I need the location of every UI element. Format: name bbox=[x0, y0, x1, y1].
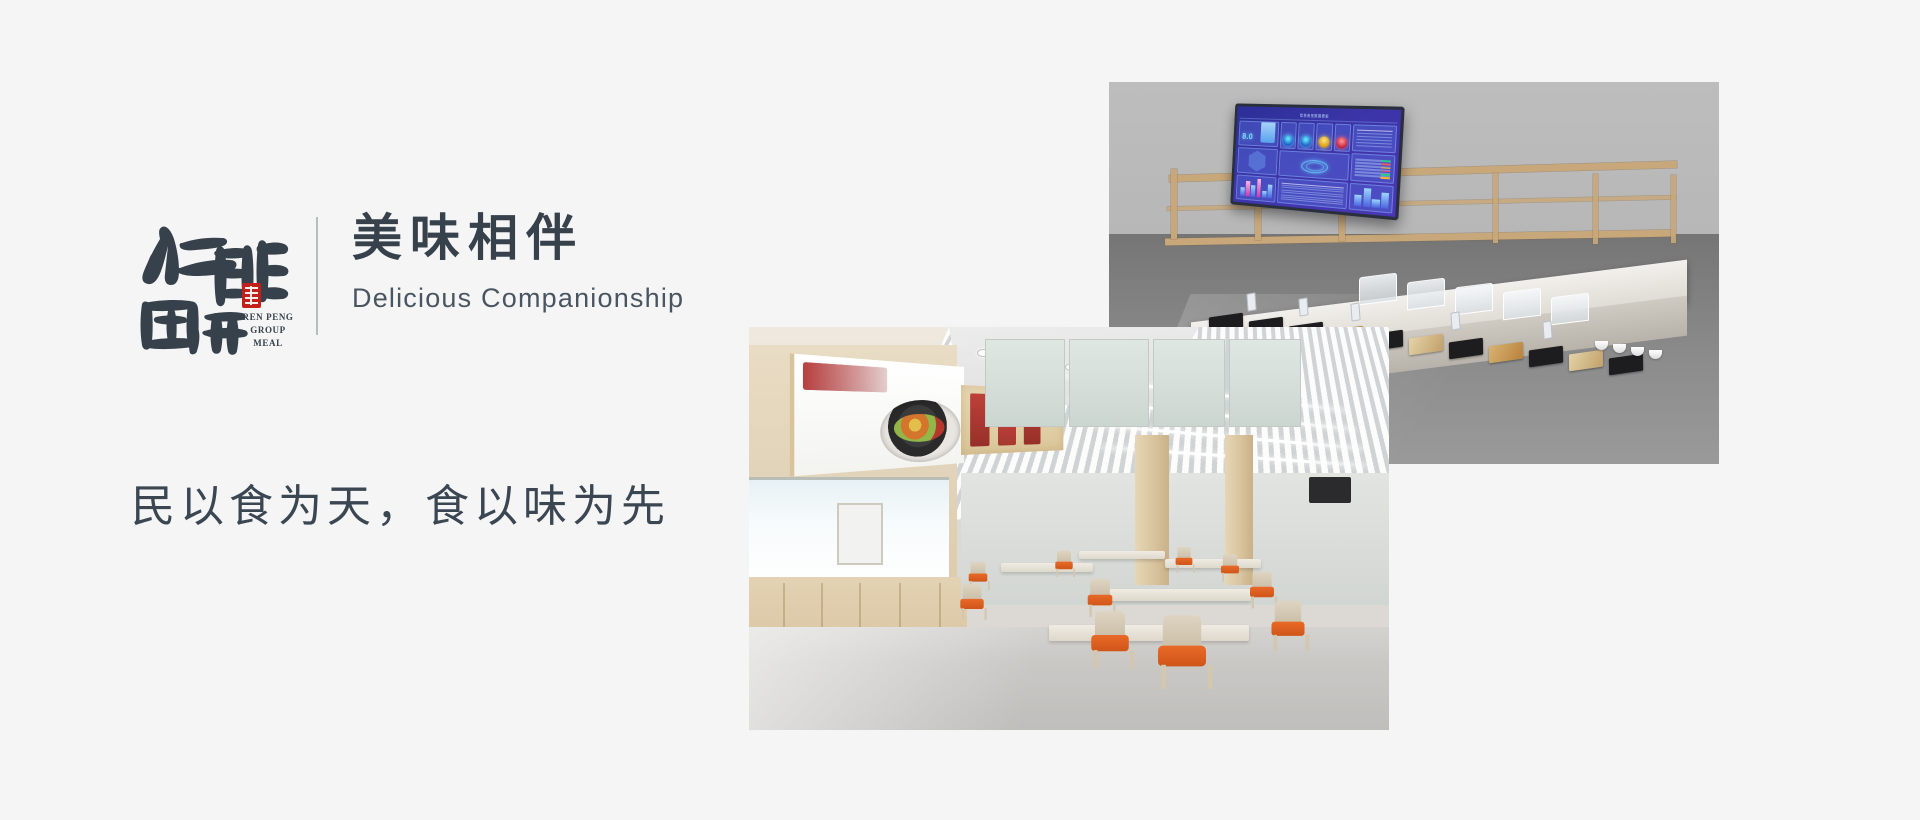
dashboard-list-card bbox=[1352, 124, 1397, 153]
logo-english-text: REN PENG GROUP MEAL bbox=[233, 311, 303, 350]
stacked-bowls bbox=[1613, 344, 1626, 353]
dish-tray bbox=[1529, 346, 1563, 368]
stacked-bowls bbox=[1595, 341, 1608, 350]
dish-photo-icon bbox=[880, 399, 960, 465]
logo-english-line-2: GROUP bbox=[233, 324, 303, 337]
kpi-tile-2 bbox=[1297, 123, 1314, 150]
bar-chart-icon bbox=[1240, 175, 1273, 199]
dashboard-ui: 智慧食堂数据看板 8.0 bbox=[1233, 106, 1401, 217]
sneeze-guard bbox=[1503, 288, 1541, 321]
dining-table bbox=[1049, 625, 1249, 641]
dashboard-column-right bbox=[1349, 124, 1397, 213]
dashboard-ring-card-left bbox=[1278, 150, 1350, 181]
kpi-tile-1 bbox=[1280, 122, 1297, 149]
mini-bar-chart-icon bbox=[1354, 183, 1389, 209]
table-rows-icon bbox=[1281, 182, 1345, 204]
logo-english-line-1: REN PENG bbox=[233, 311, 303, 324]
price-tag-stand bbox=[1450, 311, 1460, 330]
led-dashboard-screen: 智慧食堂数据看板 8.0 bbox=[1230, 103, 1404, 220]
kpi-tile-3 bbox=[1315, 123, 1333, 151]
headline-chinese: 美味相伴 bbox=[352, 209, 684, 268]
dashboard-column-left: 8.0 bbox=[1236, 121, 1280, 203]
chef-avatar-icon bbox=[1260, 121, 1276, 144]
dining-chair bbox=[1158, 615, 1206, 689]
dining-chair bbox=[1055, 551, 1072, 578]
cafeteria-interior-photo bbox=[749, 327, 1389, 730]
price-tag-stand bbox=[1350, 302, 1360, 321]
dashboard-column-mid bbox=[1277, 122, 1352, 209]
kpi-tile-4 bbox=[1333, 124, 1351, 152]
dashboard-kpi-row bbox=[1280, 122, 1352, 152]
dashboard-radar-card bbox=[1237, 147, 1278, 175]
list-rows-icon bbox=[1356, 130, 1392, 150]
logo-english-line-3: MEAL bbox=[233, 337, 303, 350]
vertical-divider bbox=[316, 217, 318, 335]
wall-mounted-tv bbox=[1309, 477, 1351, 503]
dashboard-bar-card bbox=[1236, 174, 1277, 202]
company-logo[interactable]: REN PENG GROUP MEAL bbox=[130, 205, 290, 355]
price-tag-stand bbox=[1246, 292, 1256, 311]
dining-chair bbox=[1272, 601, 1305, 652]
red-seal-icon bbox=[242, 283, 261, 308]
headline-group: 美味相伴 Delicious Companionship bbox=[352, 205, 684, 314]
sneeze-guard bbox=[1359, 273, 1397, 306]
status-chips-icon bbox=[1380, 160, 1391, 179]
dashboard-table-card bbox=[1277, 177, 1349, 209]
dashboard-status-card bbox=[1351, 153, 1396, 183]
dish-tray bbox=[1609, 354, 1643, 376]
dining-table bbox=[1101, 589, 1251, 601]
tagline-text: 民以食为天，食以味为先 bbox=[131, 470, 670, 534]
sneeze-guard bbox=[1455, 283, 1493, 316]
backlit-menu-signboard bbox=[790, 353, 964, 476]
window-panel bbox=[1153, 339, 1225, 427]
marketing-banner: REN PENG GROUP MEAL 美味相伴 Delicious Compa… bbox=[0, 0, 1920, 820]
dining-chair bbox=[1091, 611, 1129, 669]
dining-chair bbox=[1221, 554, 1239, 582]
headline-english: Delicious Companionship bbox=[352, 282, 684, 314]
dish-tray bbox=[1569, 350, 1603, 372]
sign-brand-band bbox=[803, 362, 887, 392]
dining-chair bbox=[960, 584, 983, 620]
dining-table bbox=[1079, 551, 1165, 559]
price-tag-stand bbox=[1298, 297, 1308, 316]
price-tag-stand bbox=[1542, 320, 1552, 339]
window-panel bbox=[985, 339, 1065, 427]
dining-chair bbox=[1176, 547, 1193, 573]
window-panel bbox=[1229, 339, 1301, 427]
dashboard-mini-bar-card bbox=[1349, 183, 1394, 214]
wall-notice-frame bbox=[837, 503, 883, 565]
sneeze-guard bbox=[1407, 278, 1445, 311]
structural-column bbox=[1135, 435, 1169, 585]
dining-chair bbox=[1250, 572, 1274, 609]
dining-table bbox=[1001, 563, 1093, 572]
sneeze-guard bbox=[1551, 293, 1589, 326]
brand-block: REN PENG GROUP MEAL 美味相伴 Delicious Compa… bbox=[130, 205, 684, 355]
stacked-bowls bbox=[1649, 350, 1662, 359]
hexagon-chart-icon bbox=[1247, 150, 1267, 172]
dashboard-body: 8.0 bbox=[1236, 119, 1398, 214]
window-panel bbox=[1069, 339, 1149, 427]
dashboard-hero-card: 8.0 bbox=[1238, 121, 1279, 148]
dashboard-kpi-value: 8.0 bbox=[1242, 132, 1253, 141]
dish-tray bbox=[1489, 342, 1523, 364]
